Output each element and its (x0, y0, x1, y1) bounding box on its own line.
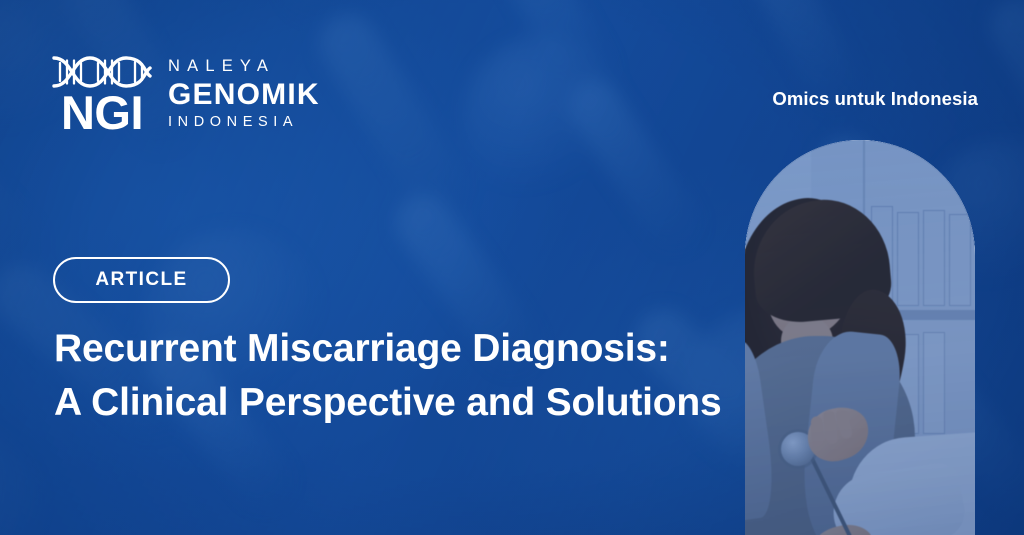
hero-photo (745, 140, 975, 535)
logo-word-indonesia: INDONESIA (168, 115, 320, 130)
logo-wordmark: NALEYA GENOMIK INDONESIA (168, 58, 320, 131)
logo-word-naleya: NALEYA (168, 58, 320, 75)
brand-logo[interactable]: NGI NALEYA GENOMIK INDONESIA (50, 54, 320, 136)
hero-photo-blue-overlay (745, 140, 975, 535)
tagline: Omics untuk Indonesia (772, 88, 978, 110)
logo-mark: NGI (50, 54, 154, 136)
logo-word-genomik: GENOMIK (168, 80, 320, 110)
dna-helix-icon (50, 54, 154, 90)
logo-abbreviation: NGI (61, 91, 143, 136)
page-title-line-1: Recurrent Miscarriage Diagnosis: (54, 322, 754, 376)
page-title-line-2: A Clinical Perspective and Solutions (54, 376, 754, 430)
article-badge[interactable]: ARTICLE (53, 257, 230, 303)
article-banner: NGI NALEYA GENOMIK INDONESIA Omics untuk… (0, 0, 1024, 535)
article-badge-label: ARTICLE (95, 269, 187, 291)
page-title: Recurrent Miscarriage Diagnosis: A Clini… (54, 322, 754, 430)
